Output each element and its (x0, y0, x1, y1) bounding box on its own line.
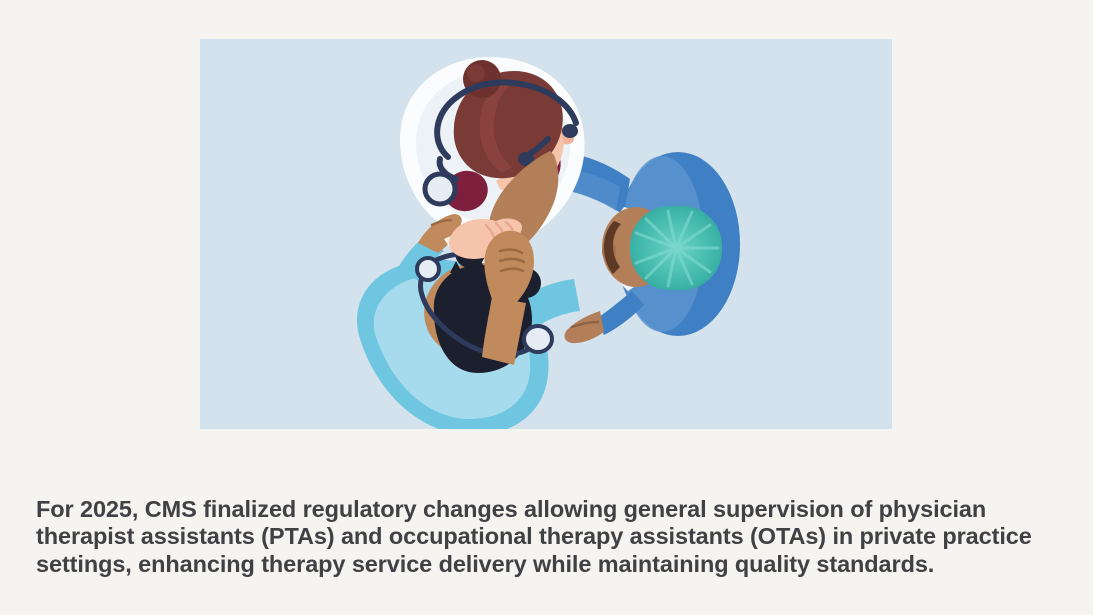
healthcare-team-illustration (200, 39, 892, 429)
doctor-stethoscope-earpiece (562, 124, 578, 138)
nurse-stethoscope-earpiece-ring (417, 258, 439, 280)
doctor-stethoscope-chestpiece (425, 174, 455, 204)
healthcare-team-illustration-svg (200, 39, 892, 429)
doctor-hair-bun-highlight (467, 64, 485, 82)
nurse-stethoscope-chestpiece (524, 326, 552, 352)
caption-text: For 2025, CMS finalized regulatory chang… (36, 496, 1036, 579)
article-card: For 2025, CMS finalized regulatory chang… (0, 0, 1093, 615)
